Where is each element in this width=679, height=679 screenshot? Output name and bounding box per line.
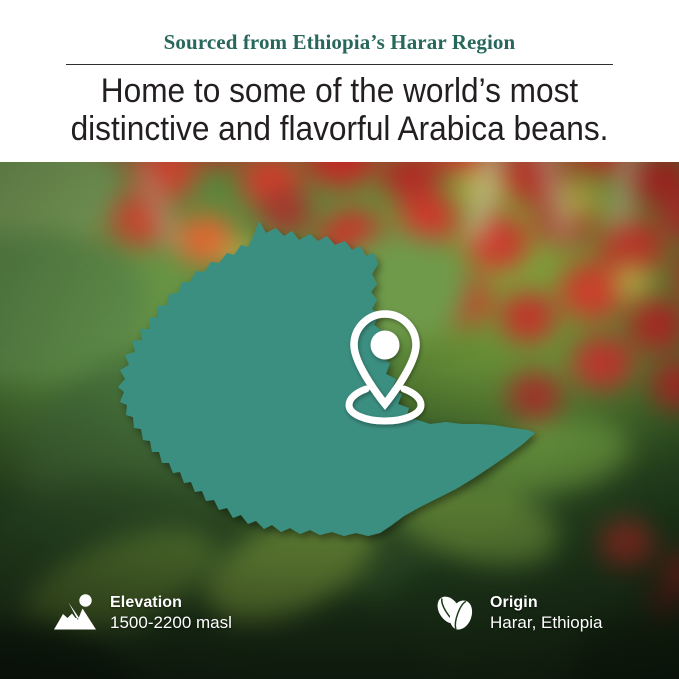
header-block: Sourced from Ethiopia’s Harar Region Hom… — [0, 0, 679, 162]
info-origin-text: Origin Harar, Ethiopia — [490, 594, 602, 633]
headline-line-2: distinctive and flavorful Arabica beans. — [24, 110, 655, 148]
info-elevation-title: Elevation — [110, 594, 232, 611]
product-infographic: Sourced from Ethiopia’s Harar Region Hom… — [0, 0, 679, 679]
coffee-bean-icon — [434, 592, 478, 634]
info-elevation-value: 1500-2200 masl — [110, 614, 232, 632]
header-divider — [66, 64, 613, 65]
info-origin: Origin Harar, Ethiopia — [434, 592, 602, 634]
ethiopia-country-shape — [118, 221, 535, 536]
info-elevation: Elevation 1500-2200 masl — [52, 592, 232, 634]
pin-center-dot — [371, 331, 400, 360]
headline-line-1: Home to some of the world’s most — [24, 72, 655, 110]
info-elevation-text: Elevation 1500-2200 masl — [110, 594, 232, 633]
info-origin-value: Harar, Ethiopia — [490, 614, 602, 632]
info-origin-title: Origin — [490, 594, 602, 611]
page-title: Home to some of the world’s most distinc… — [24, 72, 655, 148]
mountain-icon — [52, 592, 98, 634]
eyebrow-text: Sourced from Ethiopia’s Harar Region — [0, 30, 679, 55]
